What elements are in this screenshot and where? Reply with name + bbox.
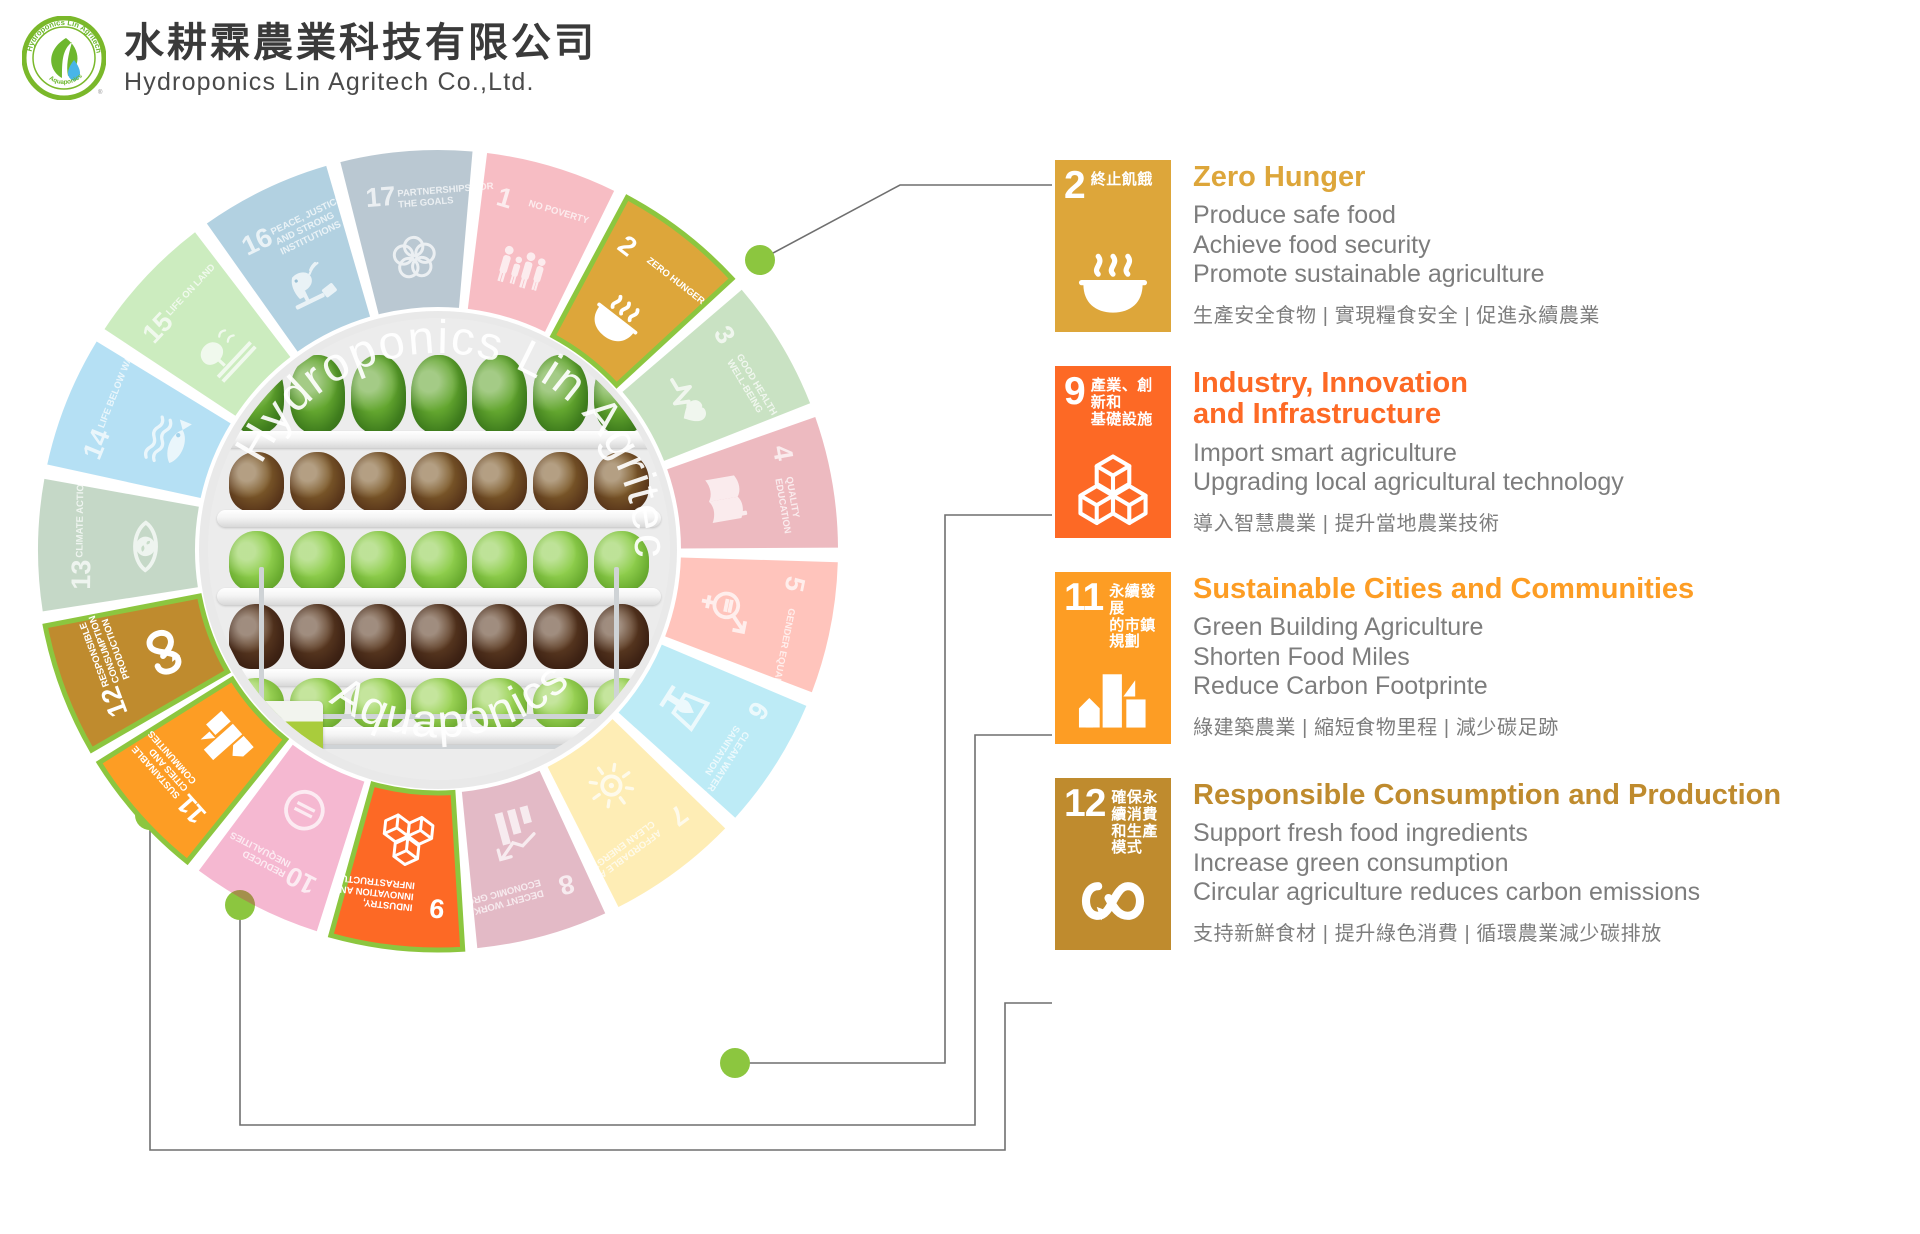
company-name-en: Hydroponics Lin Agritech Co.,Ltd.: [124, 68, 597, 97]
sdg-card-11[interactable]: 11 永續發展的市鎮規劃 Sustainable Cities and Comm…: [1055, 572, 1900, 744]
card-zh-summary: 導入智慧農業 | 提升當地農業技術: [1193, 507, 1624, 536]
badge-number: 11: [1064, 581, 1103, 615]
badge-zh-line: 的市鎮規劃: [1109, 618, 1163, 652]
card-zh-summary: 支持新鮮食材 | 提升綠色消費 | 循環農業減少碳排放: [1193, 917, 1781, 946]
badge-zh-line: 終止飢餓: [1091, 172, 1153, 189]
sdg-segment-13[interactable]: 13CLIMATE ACTION: [38, 477, 199, 611]
badge-number: 12: [1064, 787, 1105, 821]
card-lines: Import smart agricultureUpgrading local …: [1193, 439, 1624, 498]
segment-label: CLIMATE ACTION: [74, 477, 86, 557]
badge-head: 9 產業、創新和基礎設施: [1064, 375, 1163, 428]
card-zh-summary: 綠建築農業 | 縮短食物里程 | 減少碳足跡: [1193, 711, 1694, 740]
sdg-badge-2[interactable]: 2 終止飢餓: [1055, 160, 1171, 332]
sdg-badge-12[interactable]: 12 確保永續消費和生產模式: [1055, 778, 1171, 950]
card-title: Sustainable Cities and Communities: [1193, 574, 1694, 605]
sdg-card-2[interactable]: 2 終止飢餓 Zero Hunger Produce safe foodAchi…: [1055, 160, 1900, 332]
grow-pipe-2: [217, 510, 661, 527]
sdg-wheel: 1NO POVERTY 2ZERO HUNGER 3GOOD HEALTH AN…: [28, 140, 848, 960]
badge-head: 12 確保永續消費和生產模式: [1064, 787, 1163, 857]
center-photo-hydroponic-rack: Hydroponics Lin Agritech Co.,Ltd. Aquapo…: [208, 318, 670, 780]
card-body: Responsible Consumption and Production S…: [1193, 778, 1781, 946]
badge-head: 2 終止飢餓: [1064, 169, 1163, 203]
grow-pipe-1: [217, 431, 661, 448]
card-line: Shorten Food Miles: [1193, 643, 1694, 673]
cubes-icon: [1076, 452, 1150, 526]
card-body: Zero Hunger Produce safe foodAchieve foo…: [1193, 160, 1600, 328]
svg-text:®: ®: [98, 89, 103, 96]
sdg-badge-9[interactable]: 9 產業、創新和基礎設施: [1055, 366, 1171, 538]
segment-number: 17: [364, 181, 396, 213]
crop-row-2: [226, 452, 651, 512]
card-lines: Produce safe foodAchieve food securityPr…: [1193, 201, 1600, 290]
card-title: Responsible Consumption and Production: [1193, 780, 1781, 811]
card-line: Upgrading local agricultural technology: [1193, 468, 1624, 498]
sdg-badge-11[interactable]: 11 永續發展的市鎮規劃: [1055, 572, 1171, 744]
badge-number: 2: [1064, 169, 1085, 203]
card-title-line: Responsible Consumption and Production: [1193, 780, 1781, 811]
badge-icon-wrap: [1055, 452, 1171, 526]
card-line: Produce safe food: [1193, 201, 1600, 231]
svg-text:Aquaponics: Aquaponics: [48, 72, 84, 86]
sdg-card-9[interactable]: 9 產業、創新和基礎設施 Industry, Innovationand Inf…: [1055, 366, 1900, 538]
crop-row-1: [226, 355, 651, 434]
infographic-page: Hydroponics Lin Agritech Co.,Ltd. Aquapo…: [0, 0, 1920, 1234]
company-name-block: 水耕霖農業科技有限公司 Hydroponics Lin Agritech Co.…: [124, 20, 597, 97]
card-title: Zero Hunger: [1193, 162, 1600, 193]
card-line: Reduce Carbon Footprinte: [1193, 672, 1694, 702]
card-lines: Support fresh food ingredientsIncrease g…: [1193, 819, 1781, 908]
cityscape-icon: [1076, 658, 1150, 732]
card-title-line: and Infrastructure: [1193, 399, 1624, 430]
sdg-card-list: 2 終止飢餓 Zero Hunger Produce safe foodAchi…: [1055, 160, 1900, 984]
card-line: Green Building Agriculture: [1193, 613, 1694, 643]
card-title: Industry, Innovationand Infrastructure: [1193, 368, 1624, 431]
badge-icon-wrap: [1055, 246, 1171, 320]
badge-zh: 終止飢餓: [1091, 169, 1153, 189]
badge-zh-line: 產業、創新和: [1091, 378, 1163, 412]
card-line: Import smart agriculture: [1193, 439, 1624, 469]
badge-zh-line: 永續發展: [1109, 584, 1163, 618]
company-name-zh: 水耕霖農業科技有限公司: [124, 20, 597, 66]
steaming-bowl-icon: [1076, 246, 1150, 320]
badge-zh: 確保永續消費和生產模式: [1111, 787, 1163, 857]
page-header: Hydroponics Lin Agritech Co.,Ltd. Aquapo…: [22, 16, 597, 100]
card-lines: Green Building AgricultureShorten Food M…: [1193, 613, 1694, 702]
segment-number: 13: [66, 559, 96, 589]
nutrient-reservoir: [231, 701, 323, 761]
card-body: Industry, Innovationand Infrastructure I…: [1193, 366, 1624, 536]
card-body: Sustainable Cities and Communities Green…: [1193, 572, 1694, 740]
card-title-line: Zero Hunger: [1193, 162, 1600, 193]
card-line: Increase green consumption: [1193, 849, 1781, 879]
card-zh-summary: 生產安全食物 | 實現糧食安全 | 促進永續農業: [1193, 299, 1600, 328]
infinity-loop-icon: [1076, 864, 1150, 938]
badge-icon-wrap: [1055, 658, 1171, 732]
connector-dot-9: [720, 1048, 750, 1078]
card-title-line: Sustainable Cities and Communities: [1193, 574, 1694, 605]
card-line: Support fresh food ingredients: [1193, 819, 1781, 849]
company-logo: Hydroponics Lin Agritech Co.,Ltd. Aquapo…: [22, 16, 106, 100]
segment-number: 9: [428, 893, 446, 924]
badge-zh-line: 基礎設施: [1091, 412, 1163, 429]
card-line: Promote sustainable agriculture: [1193, 260, 1600, 290]
sdg-card-12[interactable]: 12 確保永續消費和生產模式 Responsible Consumption a…: [1055, 778, 1900, 950]
badge-icon-wrap: [1055, 864, 1171, 938]
badge-number: 9: [1064, 375, 1085, 409]
badge-zh-line: 和生產模式: [1111, 824, 1163, 858]
card-title-line: Industry, Innovation: [1193, 368, 1624, 399]
badge-zh-line: 確保永續消費: [1111, 790, 1163, 824]
badge-zh: 產業、創新和基礎設施: [1091, 375, 1163, 428]
card-line: Achieve food security: [1193, 231, 1600, 261]
card-line: Circular agriculture reduces carbon emis…: [1193, 878, 1781, 908]
badge-head: 11 永續發展的市鎮規劃: [1064, 581, 1163, 651]
badge-zh: 永續發展的市鎮規劃: [1109, 581, 1163, 651]
